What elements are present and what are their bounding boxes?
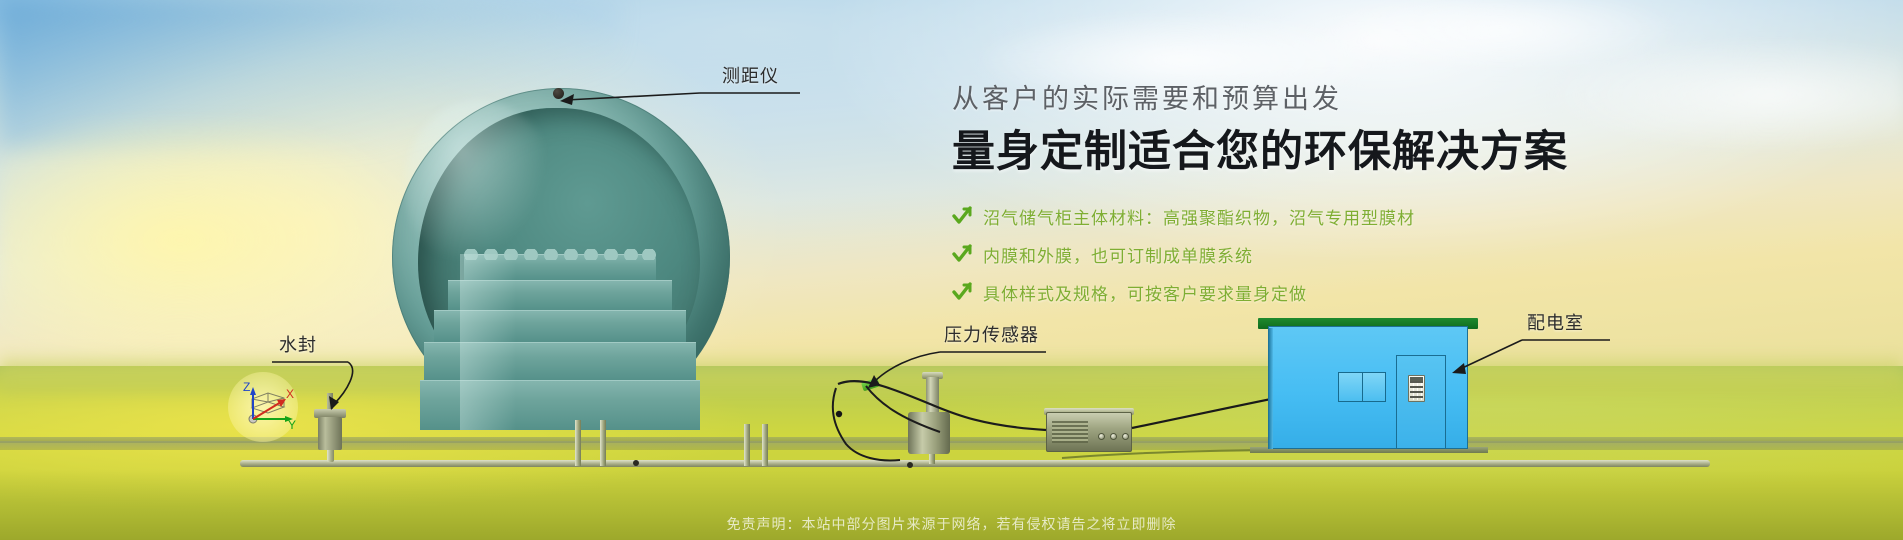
check-icon [952,282,972,302]
leader-rangefinder-arm [566,93,700,100]
hero-banner: Z Y X 测距仪 水封 压力传感器 配电室 从客户的实际需要和预算出发 量身定… [0,0,1903,540]
arrow-rangefinder [560,94,574,105]
feature-bullet-item: 内膜和外膜，也可订制成单膜系统 [952,242,1712,267]
feature-bullet-list: 沼气储气柜主体材料：高强聚酯织物，沼气专用型膜材 内膜和外膜，也可订制成单膜系统… [952,204,1712,305]
banner-headline: 量身定制适合您的环保解决方案 [952,126,1712,178]
label-rangefinder: 测距仪 [722,62,779,88]
check-icon [952,244,972,264]
feature-bullet-text: 沼气储气柜主体材料：高强聚酯织物，沼气专用型膜材 [983,204,1415,229]
banner-copy-block: 从客户的实际需要和预算出发 量身定制适合您的环保解决方案 沼气储气柜主体材料：高… [952,84,1712,318]
arrow-pressure-sensor [868,375,880,388]
feature-bullet-text: 具体样式及规格，可按客户要求量身定做 [983,280,1307,305]
leader-power-room-arm [1458,340,1522,370]
feature-bullet-item: 具体样式及规格，可按客户要求量身定做 [952,280,1712,305]
feature-bullet-item: 沼气储气柜主体材料：高强聚酯织物，沼气专用型膜材 [952,204,1712,229]
arrow-water-seal [329,396,339,410]
check-icon [952,206,972,226]
leader-pressure-sensor-arm [874,352,940,382]
leader-water-seal-arm [334,362,353,404]
arrow-power-room [1452,363,1466,374]
feature-bullet-text: 内膜和外膜，也可订制成单膜系统 [983,242,1253,267]
banner-subtitle: 从客户的实际需要和预算出发 [952,84,1712,116]
label-water-seal: 水封 [279,331,317,357]
label-pressure-sensor: 压力传感器 [944,321,1039,347]
disclaimer-text: 免责声明：本站中部分图片来源于网络，若有侵权请告之将立即删除 [0,514,1903,534]
